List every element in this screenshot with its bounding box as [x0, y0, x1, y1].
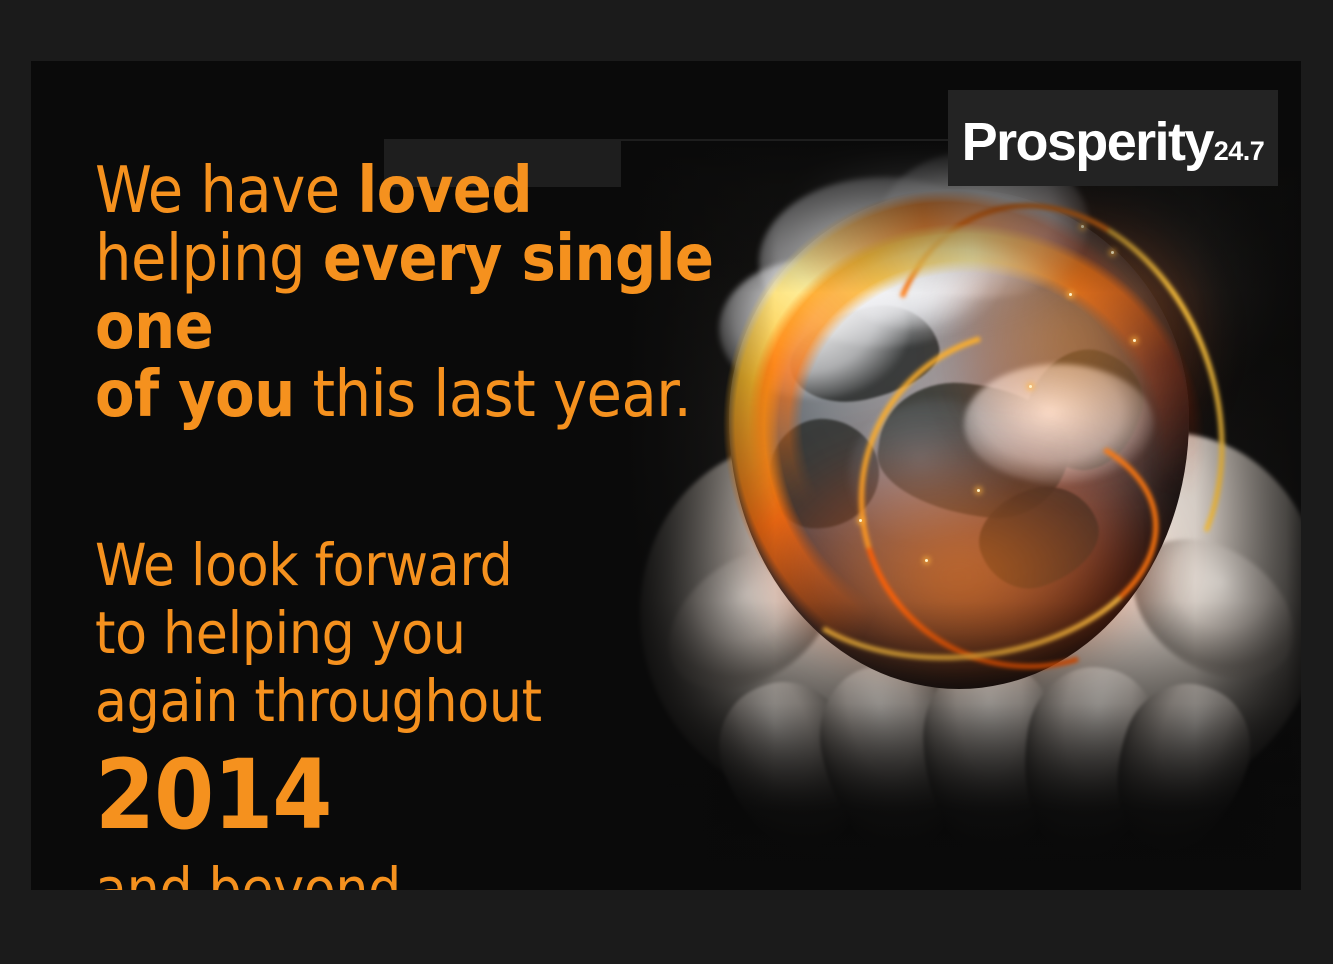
headline-line2-plain: helping [95, 222, 323, 296]
logo-lockup: Prosperity 24.7 [962, 115, 1265, 169]
headline-line3-plain: this last year. [295, 358, 692, 432]
subline: We look forward to helping you again thr… [95, 531, 795, 890]
logo-suffix: 24.7 [1214, 138, 1265, 165]
subline-line3: again throughout [95, 667, 542, 735]
poster-canvas: Prosperity 24.7 We have loved helping ev… [0, 0, 1333, 964]
headline-line3-bold: of you [95, 358, 295, 432]
poster-panel: Prosperity 24.7 We have loved helping ev… [31, 61, 1301, 890]
subline-line4: and beyond... [95, 857, 795, 890]
subline-line2: to helping you [95, 599, 466, 667]
year-highlight: 2014 [95, 741, 795, 849]
brand-logo[interactable]: Prosperity 24.7 [948, 90, 1278, 186]
subline-line1: We look forward [95, 531, 512, 599]
headline: We have loved helping every single one o… [95, 157, 795, 429]
logo-wordmark: Prosperity [962, 115, 1213, 169]
headline-line1-plain: We have [95, 154, 357, 228]
headline-line1-bold: loved [357, 154, 532, 228]
greeting-message: We have loved helping every single one o… [95, 157, 795, 890]
